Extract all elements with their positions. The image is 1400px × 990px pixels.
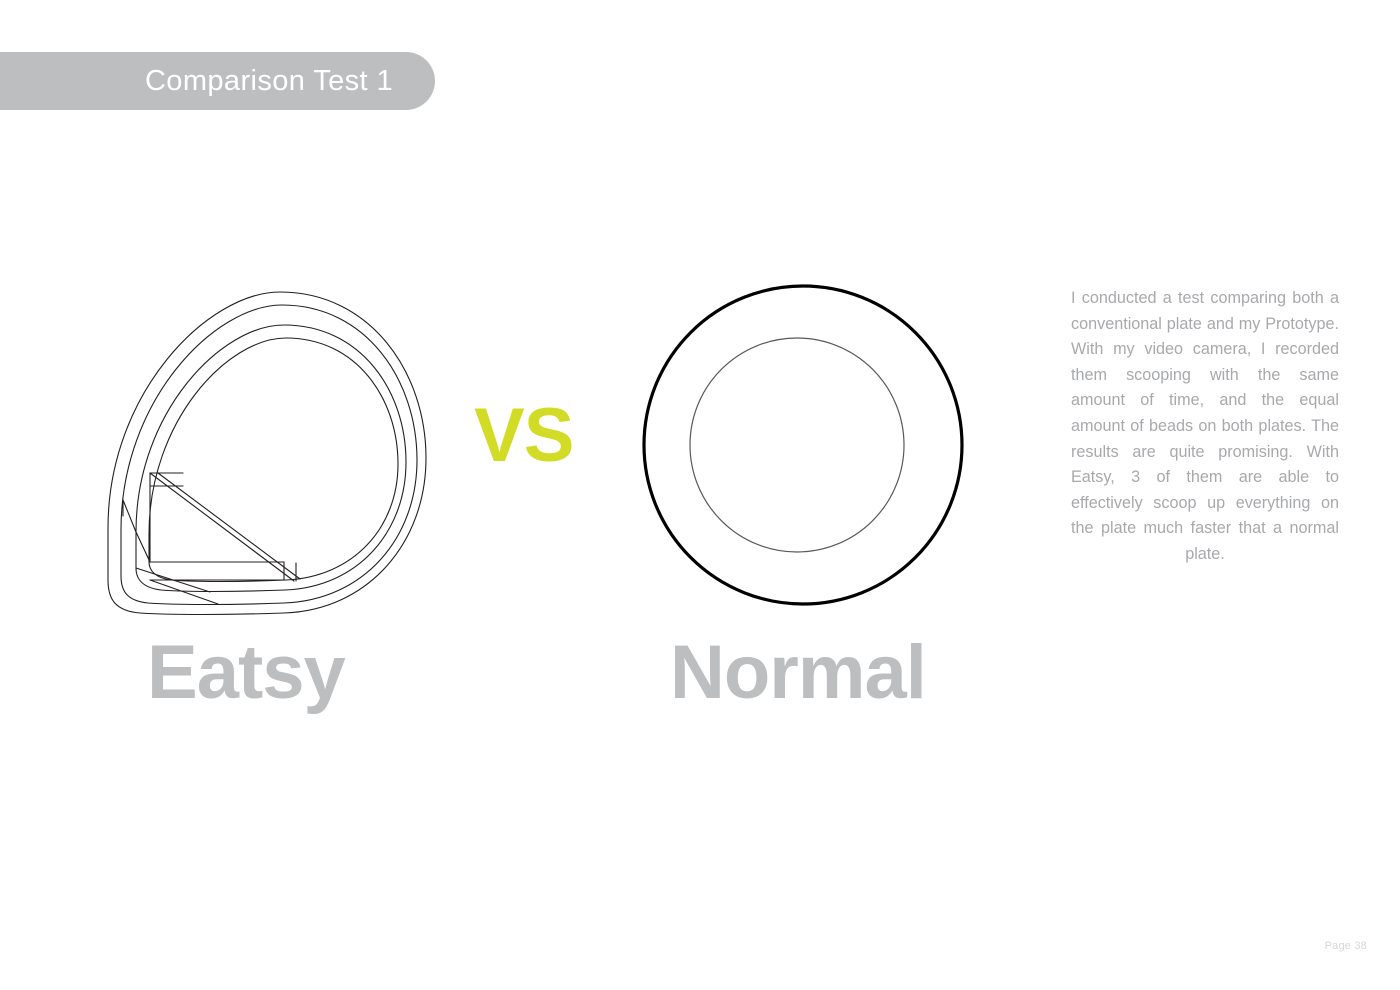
eatsy-plate-figure [88, 280, 438, 625]
page-number: Page 38 [1325, 940, 1367, 952]
comparison-stage: VS Eatsy Normal [0, 0, 1060, 990]
normal-plate-figure [635, 275, 975, 615]
vs-label: VS [474, 398, 573, 474]
eatsy-caption: Eatsy [147, 635, 345, 711]
normal-caption: Normal [670, 635, 926, 711]
normal-plate-outer-rim [644, 286, 962, 604]
normal-plate-drawing [635, 275, 975, 615]
eatsy-plate-drawing [88, 280, 438, 625]
description-paragraph: I conducted a test comparing both a conv… [1071, 286, 1339, 568]
normal-plate-inner-well [690, 338, 904, 552]
